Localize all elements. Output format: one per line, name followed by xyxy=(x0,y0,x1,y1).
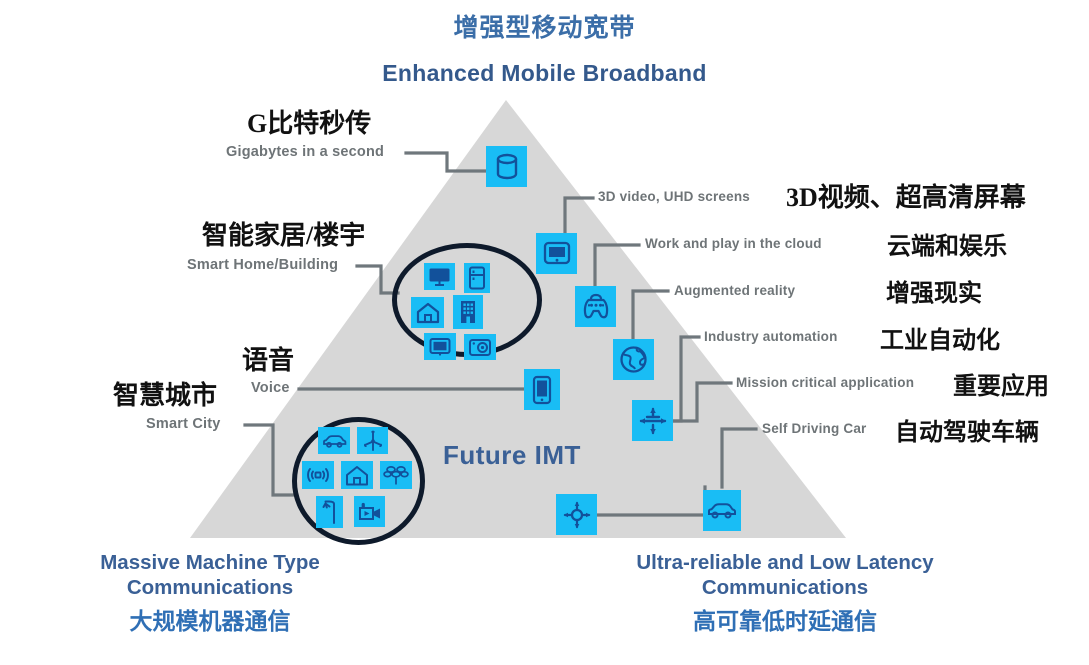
laptop-icon xyxy=(424,333,456,360)
urllc-en-line2: Communications xyxy=(570,575,1000,600)
label-ar-cn: 增强现实 xyxy=(886,273,982,308)
label-mission-en: Mission critical application xyxy=(736,375,914,390)
corner-bottom-right: Ultra-reliable and Low Latency Communica… xyxy=(570,550,1000,635)
title-top-en: Enhanced Mobile Broadband xyxy=(0,60,1089,87)
globe-icon xyxy=(613,339,654,380)
label-gigabytes-en: Gigabytes in a second xyxy=(226,144,384,160)
mmtc-en-line1: Massive Machine Type xyxy=(20,550,400,575)
network-node-icon xyxy=(556,494,597,535)
tv-screen-icon xyxy=(536,233,577,274)
office-building-icon xyxy=(453,295,483,329)
label-self-driving-cn: 自动驾驶车辆 xyxy=(895,412,1039,447)
label-voice-cn: 语音 xyxy=(242,340,294,377)
label-cloud-en: Work and play in the cloud xyxy=(645,236,822,251)
washing-machine-icon xyxy=(464,334,496,360)
house-icon xyxy=(341,461,373,489)
solar-panel-icon xyxy=(380,461,412,489)
corner-bottom-left: Massive Machine Type Communications 大规模机… xyxy=(20,550,400,635)
database-icon xyxy=(486,146,527,187)
urllc-en-line1: Ultra-reliable and Low Latency xyxy=(570,550,1000,575)
label-cloud-cn: 云端和娱乐 xyxy=(887,226,1007,261)
label-industry-cn: 工业自动化 xyxy=(880,320,1000,355)
label-smart-city-cn: 智慧城市 xyxy=(113,375,217,412)
video-camera-icon xyxy=(354,496,385,527)
street-light-icon xyxy=(316,496,343,528)
mmtc-cn: 大规模机器通信 xyxy=(20,607,400,635)
label-3d-video-cn: 3D视频、超高清屏幕 xyxy=(786,177,1026,214)
label-smart-home-en: Smart Home/Building xyxy=(187,257,338,273)
title-top-cn: 增强型移动宽带 xyxy=(0,8,1089,44)
label-voice-en: Voice xyxy=(251,380,290,396)
label-mission-cn: 重要应用 xyxy=(953,366,1049,401)
center-label-future-imt: Future IMT xyxy=(443,440,581,471)
label-gigabytes-cn: G比特秒传 xyxy=(247,103,371,140)
label-3d-video-en: 3D video, UHD screens xyxy=(598,189,750,204)
gamepad-icon xyxy=(575,286,616,327)
label-ar-en: Augmented reality xyxy=(674,283,795,298)
latency-arrows-icon xyxy=(632,400,673,441)
car-icon xyxy=(703,490,741,531)
wireless-signal-icon xyxy=(302,461,334,489)
label-self-driving-en: Self Driving Car xyxy=(762,421,866,436)
refrigerator-icon xyxy=(464,263,490,293)
car-icon xyxy=(318,427,350,454)
label-smart-home-cn: 智能家居/楼宇 xyxy=(202,215,365,252)
label-industry-en: Industry automation xyxy=(704,329,838,344)
imt-2020-usage-scenarios-diagram: 增强型移动宽带 Enhanced Mobile Broadband Massiv… xyxy=(0,0,1089,665)
smartphone-icon xyxy=(524,369,560,410)
desktop-monitor-icon xyxy=(424,263,455,290)
house-icon xyxy=(411,297,444,328)
wind-turbine-icon xyxy=(357,427,388,454)
label-smart-city-en: Smart City xyxy=(146,416,221,432)
urllc-cn: 高可靠低时延通信 xyxy=(570,607,1000,635)
mmtc-en-line2: Communications xyxy=(20,575,400,600)
